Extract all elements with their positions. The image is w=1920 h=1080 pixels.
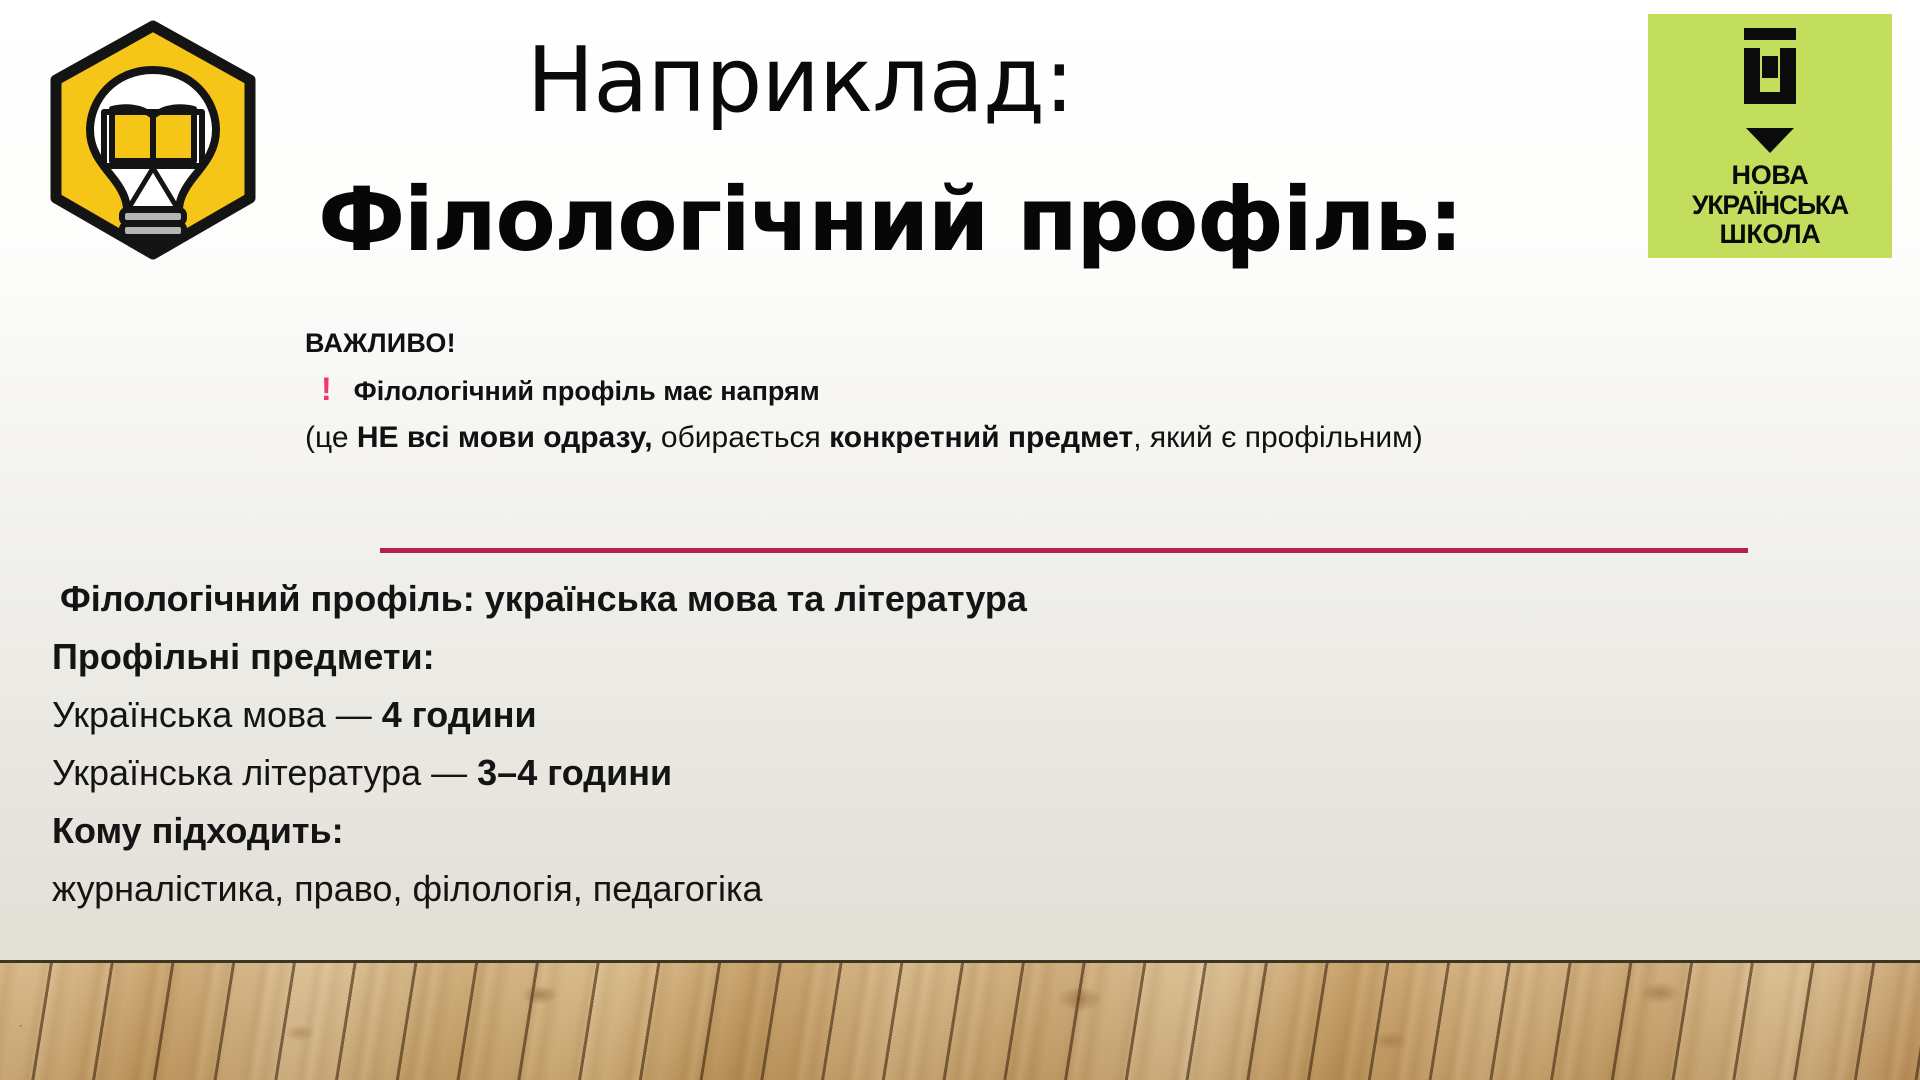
paren-bold-2: конкретний предмет	[829, 421, 1133, 454]
paren-bold-1: НЕ всі мови одразу,	[357, 421, 653, 454]
important-heading: ВАЖЛИВО!	[305, 328, 1725, 359]
body-content: Філологічний профіль: українська мова та…	[52, 570, 1552, 918]
body-line-fit-header: Кому підходить:	[52, 802, 1552, 860]
subject-1-name: Українська мова —	[52, 694, 382, 735]
page-title-line-1: Наприклад:	[0, 36, 1600, 126]
nus-monogram-icon	[1722, 26, 1818, 118]
subject-2-hours: 3–4 години	[477, 752, 672, 793]
body-line-fit-value: журналістика, право, філологія, педагогі…	[52, 860, 1552, 918]
page-title-line-2: Філологічний профіль:	[0, 176, 1780, 264]
section-divider	[380, 548, 1748, 553]
slide-canvas: НОВА УКРАЇНСЬКА ШКОЛА Наприклад: Філолог…	[0, 0, 1920, 1080]
body-line-profile: Філологічний профіль: українська мова та…	[52, 570, 1552, 628]
paren-part-2: обирається	[653, 421, 830, 454]
important-callout: ВАЖЛИВО! ! Філологічний профіль має напр…	[305, 328, 1725, 455]
subject-1-hours: 4 години	[382, 694, 537, 735]
paren-part-1: (це	[305, 421, 357, 454]
paren-part-3: , який є профільним)	[1133, 421, 1423, 454]
important-parenthetical: (це НЕ всі мови одразу, обирається конкр…	[305, 421, 1725, 455]
body-line-subject-2: Українська література — 3–4 години	[52, 744, 1552, 802]
wooden-floor-texture	[0, 960, 1920, 1080]
body-line-subject-1: Українська мова — 4 години	[52, 686, 1552, 744]
important-bullet-text: Філологічний профіль має напрям	[354, 376, 820, 407]
important-bullet-row: ! Філологічний профіль має напрям	[305, 373, 1725, 407]
exclamation-icon: !	[321, 373, 332, 405]
body-line-subjects-header: Профільні предмети:	[52, 628, 1552, 686]
nus-triangle-icon	[1746, 128, 1794, 153]
subject-2-name: Українська література —	[52, 752, 477, 793]
floor-nail-heads	[0, 963, 1920, 1080]
